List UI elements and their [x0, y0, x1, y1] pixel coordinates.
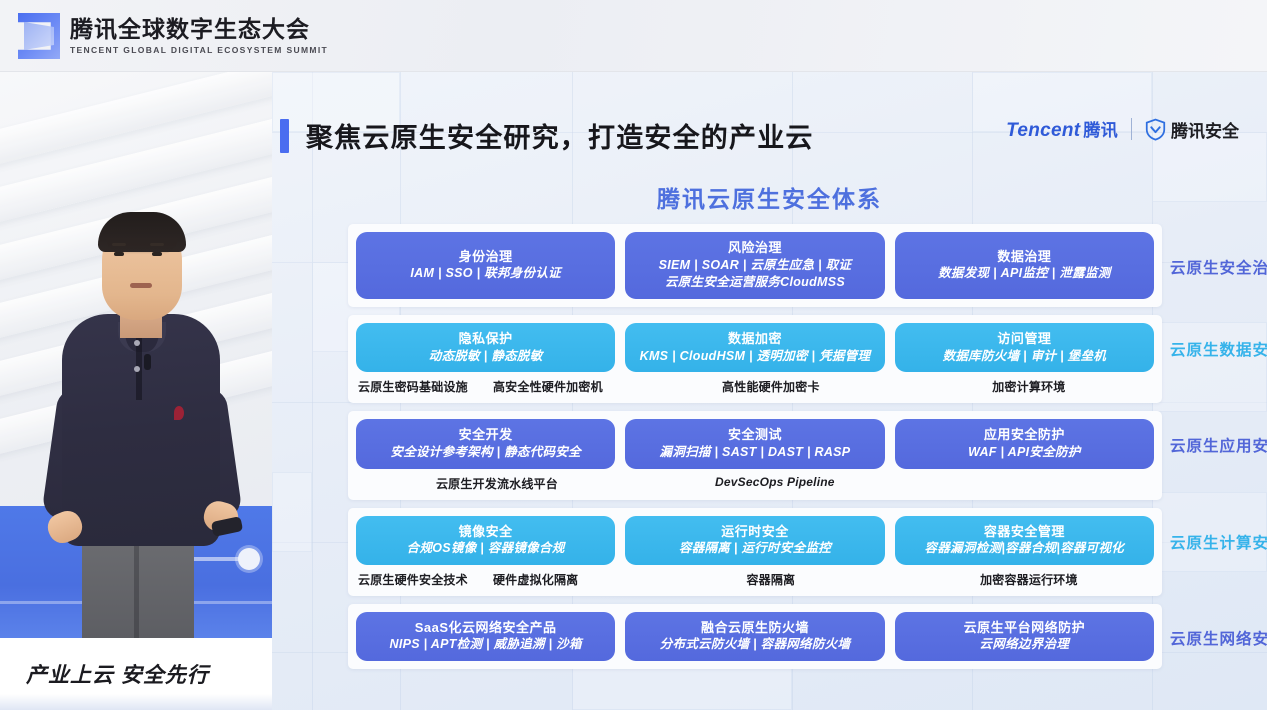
matrix-sublabel: 加密容器运行环境	[906, 571, 1152, 588]
security-card[interactable]: 数据加密KMS | CloudHSM | 透明加密 | 凭据管理	[625, 323, 884, 372]
security-card-title: 安全测试	[633, 426, 876, 444]
category-label: 云原生安全治理	[1170, 256, 1267, 278]
presenter-mouth	[130, 283, 152, 288]
security-card-detail: NIPS | APT检测 | 威胁追溯 | 沙箱	[364, 636, 607, 654]
security-card[interactable]: 云原生平台网络防护云网络边界治理	[895, 612, 1154, 661]
security-card[interactable]: 隐私保护动态脱敏 | 静态脱敏	[356, 323, 615, 372]
presenter-video-pane	[0, 72, 272, 638]
security-card[interactable]: 安全测试漏洞扫描 | SAST | DAST | RASP	[625, 419, 884, 468]
security-card[interactable]: SaaS化云网络安全产品NIPS | APT检测 | 威胁追溯 | 沙箱	[356, 612, 615, 661]
matrix-row: 镜像安全合规OS镜像 | 容器镜像合规运行时安全容器隔离 | 运行时安全监控容器…	[348, 508, 1162, 596]
matrix-row-cards: 镜像安全合规OS镜像 | 容器镜像合规运行时安全容器隔离 | 运行时安全监控容器…	[356, 516, 1154, 565]
matrix-row: SaaS化云网络安全产品NIPS | APT检测 | 威胁追溯 | 沙箱融合云原…	[348, 604, 1162, 669]
security-card-detail: 云原生安全运营服务CloudMSS	[633, 274, 876, 292]
category-label: 云原生计算安全	[1170, 531, 1267, 553]
matrix-sublabel: DevSecOps Pipeline	[636, 475, 914, 492]
logo-divider	[1131, 118, 1132, 140]
matrix-sublabel: 高性能硬件加密卡	[636, 378, 906, 395]
brand-name-cn: 腾讯全球数字生态大会	[70, 17, 328, 43]
security-card-detail: WAF | API安全防护	[903, 444, 1146, 462]
tencent-security-logo: 腾讯安全	[1145, 117, 1239, 142]
matrix-row-cards: 隐私保护动态脱敏 | 静态脱敏数据加密KMS | CloudHSM | 透明加密…	[356, 323, 1154, 372]
presenter-eye	[152, 252, 162, 256]
security-card[interactable]: 镜像安全合规OS镜像 | 容器镜像合规	[356, 516, 615, 565]
security-card-title: 镜像安全	[364, 523, 607, 541]
title-accent-bar	[280, 119, 289, 153]
security-card[interactable]: 访问管理数据库防火墙 | 审计 | 堡垒机	[895, 323, 1154, 372]
security-card-title: 身份治理	[364, 248, 607, 266]
security-card-title: 数据治理	[903, 248, 1146, 266]
matrix-row-sublabels: 云原生开发流水线平台DevSecOps Pipeline	[356, 475, 1154, 492]
matrix-row: 安全开发安全设计参考架构 | 静态代码安全安全测试漏洞扫描 | SAST | D…	[348, 411, 1162, 499]
security-card-detail: 漏洞扫描 | SAST | DAST | RASP	[633, 444, 876, 462]
security-card[interactable]: 应用安全防护WAF | API安全防护	[895, 419, 1154, 468]
security-matrix: 身份治理IAM | SSO | 联邦身份认证风险治理SIEM | SOAR | …	[348, 224, 1162, 677]
category-label: 云原生数据安全	[1170, 338, 1267, 360]
matrix-sublabel: 云原生硬件安全技术	[358, 571, 493, 588]
presenter-torso	[62, 314, 220, 546]
category-label: 云原生应用安全	[1170, 434, 1267, 456]
tencent-security-label: 腾讯安全	[1171, 117, 1239, 142]
shield-check-icon	[1145, 118, 1166, 141]
security-card-title: 容器安全管理	[903, 523, 1146, 541]
security-card[interactable]: 融合云原生防火墙分布式云防火墙 | 容器网络防火墙	[625, 612, 884, 661]
security-card-detail: IAM | SSO | 联邦身份认证	[364, 265, 607, 283]
slide-title-row: 聚焦云原生安全研究，打造安全的产业云	[280, 116, 814, 155]
matrix-sublabel: 高安全性硬件加密机	[493, 378, 636, 395]
security-card-detail: 安全设计参考架构 | 静态代码安全	[364, 444, 607, 462]
matrix-row-cards: SaaS化云网络安全产品NIPS | APT检测 | 威胁追溯 | 沙箱融合云原…	[356, 612, 1154, 661]
tencent-logo: Tencent腾讯	[1006, 116, 1118, 142]
tencent-summit-logo-icon	[18, 13, 60, 59]
matrix-row-sublabels: 云原生硬件安全技术硬件虚拟化隔离容器隔离加密容器运行环境	[356, 571, 1154, 588]
security-card-title: SaaS化云网络安全产品	[364, 619, 607, 637]
matrix-sublabel: 容器隔离	[636, 571, 906, 588]
security-card-detail: 数据发现 | API监控 | 泄露监测	[903, 265, 1146, 283]
security-card-title: 风险治理	[633, 239, 876, 257]
security-card[interactable]: 风险治理SIEM | SOAR | 云原生应急 | 取证云原生安全运营服务Clo…	[625, 232, 884, 299]
matrix-sublabel: 云原生开发流水线平台	[358, 475, 636, 492]
matrix-row-cards: 安全开发安全设计参考架构 | 静态代码安全安全测试漏洞扫描 | SAST | D…	[356, 419, 1154, 468]
slide-logos: Tencent腾讯 腾讯安全	[1006, 116, 1239, 142]
matrix-sublabel: 加密计算环境	[906, 378, 1152, 395]
presenter-button	[134, 340, 140, 346]
security-card-title: 云原生平台网络防护	[903, 619, 1146, 637]
tencent-logo-cn: 腾讯	[1083, 121, 1118, 140]
security-card[interactable]: 数据治理数据发现 | API监控 | 泄露监测	[895, 232, 1154, 299]
matrix-row: 隐私保护动态脱敏 | 静态脱敏数据加密KMS | CloudHSM | 透明加密…	[348, 315, 1162, 403]
security-card-detail: 数据库防火墙 | 审计 | 堡垒机	[903, 348, 1146, 366]
security-card-detail: 动态脱敏 | 静态脱敏	[364, 348, 607, 366]
security-card-detail: 云网络边界治理	[903, 636, 1146, 654]
presenter-eyebrow	[112, 243, 126, 246]
brand-name-en: TENCENT GLOBAL DIGITAL ECOSYSTEM SUMMIT	[70, 45, 328, 55]
tencent-logo-en: Tencent	[1006, 120, 1080, 141]
security-card-title: 运行时安全	[633, 523, 876, 541]
matrix-row: 身份治理IAM | SSO | 联邦身份认证风险治理SIEM | SOAR | …	[348, 224, 1162, 307]
security-card-detail: KMS | CloudHSM | 透明加密 | 凭据管理	[633, 348, 876, 366]
category-label: 云原生网络安全	[1170, 627, 1267, 649]
slide-subtitle: 腾讯云原生安全体系	[272, 180, 1267, 214]
security-card[interactable]: 安全开发安全设计参考架构 | 静态代码安全	[356, 419, 615, 468]
presentation-slide: 聚焦云原生安全研究，打造安全的产业云 Tencent腾讯 腾讯安全 腾讯云原生安…	[272, 72, 1267, 710]
security-card-detail: SIEM | SOAR | 云原生应急 | 取证	[633, 257, 876, 275]
security-card-detail: 容器隔离 | 运行时安全监控	[633, 540, 876, 558]
security-card-title: 数据加密	[633, 330, 876, 348]
matrix-row-sublabels: 云原生密码基础设施高安全性硬件加密机高性能硬件加密卡加密计算环境	[356, 378, 1154, 395]
security-card[interactable]: 运行时安全容器隔离 | 运行时安全监控	[625, 516, 884, 565]
matrix-row-cards: 身份治理IAM | SSO | 联邦身份认证风险治理SIEM | SOAR | …	[356, 232, 1154, 299]
security-card-title: 融合云原生防火墙	[633, 619, 876, 637]
screen: 腾讯全球数字生态大会 TENCENT GLOBAL DIGITAL ECOSYS…	[0, 0, 1267, 710]
caption-text: 产业上云 安全先行	[26, 659, 209, 689]
matrix-sublabel: 云原生密码基础设施	[358, 378, 493, 395]
security-card-title: 安全开发	[364, 426, 607, 444]
presenter-hair	[98, 212, 186, 252]
security-card-title: 隐私保护	[364, 330, 607, 348]
security-card-detail: 容器漏洞检测|容器合规|容器可视化	[903, 540, 1146, 558]
presenter	[36, 138, 246, 638]
presenter-button	[134, 366, 140, 372]
lapel-mic-icon	[144, 354, 151, 370]
security-card-detail: 分布式云防火墙 | 容器网络防火墙	[633, 636, 876, 654]
presenter-eye	[114, 252, 124, 256]
security-card[interactable]: 身份治理IAM | SSO | 联邦身份认证	[356, 232, 615, 299]
security-card-detail: 合规OS镜像 | 容器镜像合规	[364, 540, 607, 558]
conference-brand: 腾讯全球数字生态大会 TENCENT GLOBAL DIGITAL ECOSYS…	[18, 13, 328, 59]
caption-shadow	[0, 694, 272, 710]
security-card[interactable]: 容器安全管理容器漏洞检测|容器合规|容器可视化	[895, 516, 1154, 565]
security-card-title: 访问管理	[903, 330, 1146, 348]
matrix-sublabel: 硬件虚拟化隔离	[493, 571, 636, 588]
slide-title: 聚焦云原生安全研究，打造安全的产业云	[306, 116, 814, 155]
shirt-logo	[174, 406, 184, 420]
conference-header-bar: 腾讯全球数字生态大会 TENCENT GLOBAL DIGITAL ECOSYS…	[0, 0, 1267, 72]
presenter-eyebrow	[150, 243, 164, 246]
security-card-title: 应用安全防护	[903, 426, 1146, 444]
